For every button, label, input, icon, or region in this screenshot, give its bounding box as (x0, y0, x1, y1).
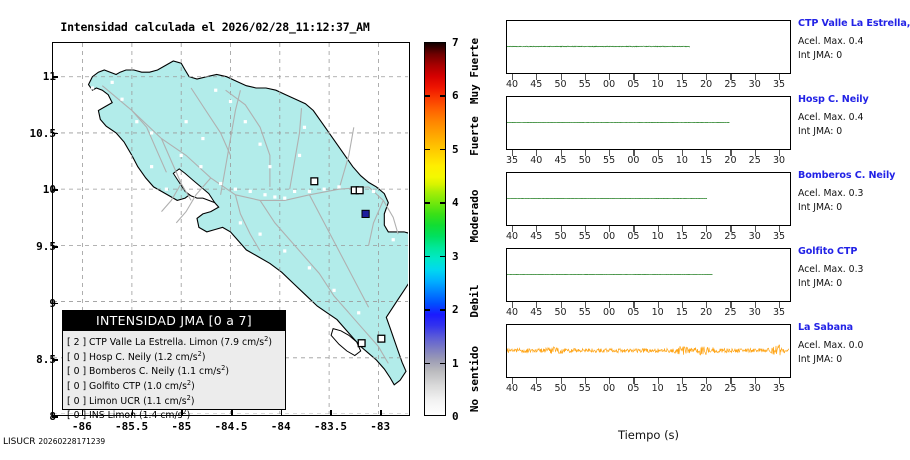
map-y-tick-mark (52, 416, 58, 418)
colorbar-category-label: Debil (468, 285, 481, 318)
station-name[interactable]: La Sabana (798, 322, 910, 333)
legend-title: INTENSIDAD JMA [0 a 7] (63, 311, 285, 331)
legend-station-row: [ 2 ] CTP Valle La Estrella. Limon (7.9 … (67, 334, 285, 349)
time-tick-label: 15 (700, 155, 712, 166)
waveform-plot[interactable] (506, 96, 791, 150)
seismogram-panel[interactable]: 354045505500051015202530Hosp C. NeilyAce… (498, 96, 910, 172)
waveform-plot[interactable] (506, 172, 791, 226)
time-tick-label: 10 (676, 155, 688, 166)
map-y-tick-label: 11 (0, 70, 56, 83)
map-y-tick-label: 8.5 (0, 353, 56, 366)
station-jma-intensity: Int JMA: 0 (798, 278, 910, 289)
legend-intensity: [ 0 ] (67, 381, 89, 392)
station-max-acceleration: Acel. Max. 0.4 (798, 36, 910, 47)
legend-station-row: [ 0 ] Hosp C. Neily (1.2 cm/s2) (67, 349, 285, 364)
colorbar-gradient (424, 42, 446, 416)
time-tick-label: 10 (652, 307, 664, 318)
legend-station-name: Hosp C. Neily (1.2 cm/s (89, 352, 198, 363)
time-tick-label: 45 (530, 307, 542, 318)
legend-station-name: CTP Valle La Estrella. Limon (7.9 cm/s (89, 337, 264, 348)
station-jma-intensity: Int JMA: 0 (798, 202, 910, 213)
time-tick-label: 40 (506, 79, 518, 90)
map-y-tick-label: 10.5 (0, 127, 56, 140)
time-tick-label: 45 (530, 79, 542, 90)
map-y-tick-mark (52, 246, 58, 248)
time-tick-label: 25 (749, 155, 761, 166)
legend-station-name: Golfito CTP (1.0 cm/s (89, 381, 187, 392)
colorbar-tick-label: 1 (452, 357, 459, 370)
waveform-trace (507, 249, 789, 300)
map-title: Intensidad calculada el 2026/02/28_11:12… (0, 20, 430, 34)
time-tick-label: 35 (506, 155, 518, 166)
waveform-plot[interactable] (506, 324, 791, 378)
time-tick-label: 05 (627, 383, 639, 394)
colorbar-tick-mark (440, 95, 445, 97)
legend-close-paren: ) (202, 352, 206, 363)
time-tick-label: 45 (554, 155, 566, 166)
legend-station-row: [ 0 ] Limon UCR (1.1 cm/s2) (67, 393, 285, 408)
colorbar-category-label: No sentido (468, 345, 481, 411)
station-max-acceleration: Acel. Max. 0.3 (798, 188, 910, 199)
time-tick-label: 40 (506, 383, 518, 394)
time-tick-label: 35 (773, 231, 785, 242)
time-tick-label: 05 (652, 155, 664, 166)
legend-intensity: [ 0 ] (67, 396, 89, 407)
colorbar-tick-mark (425, 149, 430, 151)
time-tick-labels: 404550550005101520253035 (506, 79, 791, 93)
seismogram-panels: 404550550005101520253035CTP Valle La Est… (498, 8, 910, 460)
time-tick-label: 15 (676, 307, 688, 318)
map-y-tick-mark (52, 189, 58, 191)
time-tick-label: 55 (579, 231, 591, 242)
time-tick-label: 40 (506, 231, 518, 242)
map-panel: Intensidad calculada el 2026/02/28_11:12… (0, 0, 470, 460)
seismogram-panel[interactable]: 404550550005101520253035La SabanaAcel. M… (498, 324, 910, 400)
time-tick-label: 25 (724, 307, 736, 318)
legend-station-name: Bomberos C. Neily (1.1 cm/s (89, 366, 221, 377)
station-max-acceleration: Acel. Max. 0.0 (798, 340, 910, 351)
colorbar-tick-mark (440, 202, 445, 204)
time-tick-label: 55 (579, 383, 591, 394)
time-tick-label: 10 (652, 231, 664, 242)
time-tick-label: 40 (530, 155, 542, 166)
time-tick-label: 50 (554, 307, 566, 318)
intensity-legend: INTENSIDAD JMA [0 a 7] [ 2 ] CTP Valle L… (62, 310, 286, 410)
station-name[interactable]: Hosp C. Neily (798, 94, 910, 105)
station-info: La SabanaAcel. Max. 0.0Int JMA: 0 (798, 322, 910, 365)
waveform-trace (507, 97, 789, 148)
legend-intensity: [ 0 ] (67, 366, 89, 377)
time-tick-label: 15 (676, 79, 688, 90)
legend-intensity: [ 0 ] (67, 411, 89, 422)
station-info: Hosp C. NeilyAcel. Max. 0.4Int JMA: 0 (798, 94, 910, 137)
station-max-acceleration: Acel. Max. 0.3 (798, 264, 910, 275)
legend-intensity: [ 2 ] (67, 337, 89, 348)
colorbar-tick-label: 2 (452, 303, 459, 316)
map-y-tick-mark (52, 76, 58, 78)
time-tick-label: 20 (724, 155, 736, 166)
map-x-tick-mark (330, 410, 332, 416)
colorbar-tick-mark (425, 95, 430, 97)
time-tick-label: 00 (603, 383, 615, 394)
station-info: Bomberos C. NeilyAcel. Max. 0.3Int JMA: … (798, 170, 910, 213)
map-y-tick-label: 10 (0, 183, 56, 196)
legend-station-row: [ 0 ] Bomberos C. Neily (1.1 cm/s2) (67, 363, 285, 378)
time-tick-label: 30 (749, 231, 761, 242)
time-tick-label: 20 (700, 231, 712, 242)
legend-close-paren: ) (268, 337, 272, 348)
time-tick-label: 25 (724, 383, 736, 394)
colorbar-tick-mark (425, 202, 430, 204)
map-y-tick-label: 8 (0, 410, 56, 423)
time-tick-label: 15 (676, 231, 688, 242)
map-x-tick-mark (380, 410, 382, 416)
legend-close-paren: ) (187, 411, 191, 422)
legend-intensity: [ 0 ] (67, 352, 89, 363)
colorbar-tick-mark (425, 363, 430, 365)
time-tick-label: 45 (530, 383, 542, 394)
colorbar-tick-mark (425, 256, 430, 258)
time-tick-label: 20 (700, 383, 712, 394)
colorbar-tick-label: 3 (452, 250, 459, 263)
footer-lab: LISUCR (3, 437, 36, 447)
time-tick-label: 55 (579, 79, 591, 90)
legend-station-row: [ 0 ] Golfito CTP (1.0 cm/s2) (67, 378, 285, 393)
waveform-plot[interactable] (506, 248, 791, 302)
legend-station-list: [ 2 ] CTP Valle La Estrella. Limon (7.9 … (63, 331, 285, 422)
time-tick-labels: 354045505500051015202530 (506, 155, 791, 169)
waveform-plot[interactable] (506, 20, 791, 74)
time-tick-label: 15 (676, 383, 688, 394)
seismogram-panel[interactable]: 404550550005101520253035Golfito CTPAcel.… (498, 248, 910, 324)
time-tick-label: 45 (530, 231, 542, 242)
station-jma-intensity: Int JMA: 0 (798, 50, 910, 61)
colorbar-tick-mark (425, 309, 430, 311)
legend-station-name: INS Limon (1.4 cm/s (89, 411, 182, 422)
station-info: CTP Valle La Estrella, LAcel. Max. 0.4In… (798, 18, 910, 61)
time-tick-label: 50 (579, 155, 591, 166)
map-y-tick-mark (52, 133, 58, 135)
colorbar-tick-label: 7 (452, 36, 459, 49)
station-info: Golfito CTPAcel. Max. 0.3Int JMA: 0 (798, 246, 910, 289)
map-y-tick-mark (52, 303, 58, 305)
time-tick-label: 35 (773, 79, 785, 90)
time-tick-label: 00 (603, 231, 615, 242)
colorbar-category-label: Muy Fuerte (468, 38, 481, 104)
time-tick-labels: 404550550005101520253035 (506, 307, 791, 321)
colorbar-tick-label: 5 (452, 143, 459, 156)
legend-station-row: [ 0 ] INS Limon (1.4 cm/s2) (67, 407, 285, 422)
station-name[interactable]: Golfito CTP (798, 246, 910, 257)
colorbar-category-label: Moderado (468, 189, 481, 242)
waveform-trace (507, 325, 789, 376)
station-jma-intensity: Int JMA: 0 (798, 126, 910, 137)
colorbar-category-label: Fuerte (468, 116, 481, 156)
time-tick-label: 50 (554, 79, 566, 90)
time-tick-label: 40 (506, 307, 518, 318)
legend-station-name: Limon UCR (1.1 cm/s (89, 396, 187, 407)
time-tick-label: 10 (652, 383, 664, 394)
time-tick-label: 50 (554, 383, 566, 394)
station-max-acceleration: Acel. Max. 0.4 (798, 112, 910, 123)
time-tick-label: 05 (627, 307, 639, 318)
seismogram-panel[interactable]: 404550550005101520253035Bomberos C. Neil… (498, 172, 910, 248)
station-name[interactable]: CTP Valle La Estrella, L (798, 18, 910, 29)
waveform-trace (507, 21, 789, 72)
time-tick-label: 30 (749, 307, 761, 318)
map-y-tick-label: 9 (0, 297, 56, 310)
legend-close-paren: ) (191, 396, 195, 407)
map-y-tick-label: 9.5 (0, 240, 56, 253)
time-tick-label: 35 (773, 307, 785, 318)
colorbar-tick-label: 6 (452, 89, 459, 102)
time-tick-labels: 404550550005101520253035 (506, 383, 791, 397)
footer-id: 20260228171239 (38, 437, 105, 446)
time-axis-label: Tiempo (s) (506, 428, 791, 442)
time-tick-label: 00 (627, 155, 639, 166)
map-x-tick-label: -83 (350, 420, 410, 433)
colorbar-tick-label: 4 (452, 196, 459, 209)
time-tick-label: 00 (603, 79, 615, 90)
time-tick-label: 30 (749, 79, 761, 90)
legend-close-paren: ) (225, 366, 229, 377)
colorbar-tick-mark (440, 149, 445, 151)
time-tick-label: 25 (724, 231, 736, 242)
station-name[interactable]: Bomberos C. Neily (798, 170, 910, 181)
seismogram-panel[interactable]: 404550550005101520253035CTP Valle La Est… (498, 20, 910, 96)
time-tick-label: 10 (652, 79, 664, 90)
station-jma-intensity: Int JMA: 0 (798, 354, 910, 365)
legend-close-paren: ) (191, 381, 195, 392)
waveform-trace (507, 173, 789, 224)
time-tick-label: 50 (554, 231, 566, 242)
map-y-tick-mark (52, 359, 58, 361)
colorbar-tick-label: 0 (452, 410, 459, 423)
time-tick-label: 30 (773, 155, 785, 166)
time-tick-label: 20 (700, 79, 712, 90)
time-tick-label: 25 (724, 79, 736, 90)
colorbar-tick-mark (440, 309, 445, 311)
time-tick-label: 55 (603, 155, 615, 166)
footer: LISUCR 20260228171239 (3, 437, 105, 447)
time-tick-label: 30 (749, 383, 761, 394)
time-tick-label: 20 (700, 307, 712, 318)
time-tick-labels: 404550550005101520253035 (506, 231, 791, 245)
colorbar-tick-mark (440, 363, 445, 365)
time-tick-label: 35 (773, 383, 785, 394)
time-tick-label: 00 (603, 307, 615, 318)
colorbar-tick-mark (440, 256, 445, 258)
time-tick-label: 55 (579, 307, 591, 318)
time-tick-label: 05 (627, 79, 639, 90)
time-tick-label: 05 (627, 231, 639, 242)
